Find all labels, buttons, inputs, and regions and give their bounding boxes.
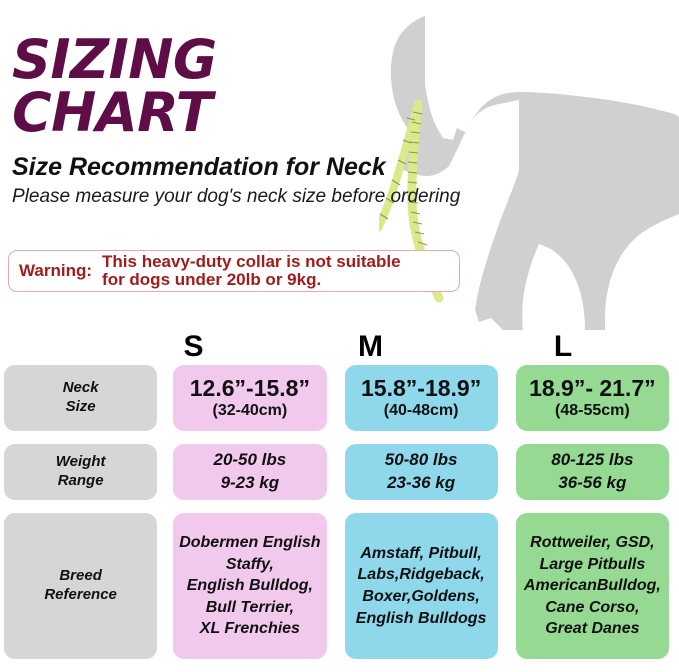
warning-label: Warning: [19,261,92,281]
breed-reference-large-value: Rottweiler, GSD, Large Pitbulls American… [520,532,665,640]
breed-reference-small-value: Dobermen English Staffy, English Bulldog… [175,532,324,640]
neck-size-small: 12.6”-15.8” (32-40cm) [173,365,326,431]
table-header-row: S M L [0,330,679,362]
row-label-breed-reference: Breed Reference [4,513,157,659]
breed-reference-medium: Amstaff, Pitbull, Labs,Ridgeback, Boxer,… [345,513,498,659]
size-table: S M L Neck Size 12.6”-15.8” (32-40cm) 15… [0,330,679,662]
size-header-m: M [282,330,459,362]
weight-range-small-value: 20-50 lbs 9-23 kg [213,449,286,495]
breed-reference-small: Dobermen English Staffy, English Bulldog… [173,513,326,659]
weight-range-medium-value: 50-80 lbs 23-36 kg [385,449,458,495]
size-header-s: S [105,330,282,362]
neck-size-medium-inches: 15.8”-18.9” [361,376,481,400]
table-row: Neck Size 12.6”-15.8” (32-40cm) 15.8”-18… [0,362,679,434]
neck-size-medium-cm: (40-48cm) [384,402,459,420]
row-label-neck-size: Neck Size [4,365,157,431]
neck-size-medium: 15.8”-18.9” (40-48cm) [345,365,498,431]
neck-size-large-cm: (48-55cm) [555,402,630,420]
size-header-l: L [459,330,667,362]
page-title: SIZING CHART [12,34,482,140]
breed-reference-large: Rottweiler, GSD, Large Pitbulls American… [516,513,669,659]
neck-size-small-inches: 12.6”-15.8” [190,376,310,400]
warning-message: This heavy-duty collar is not suitable f… [102,253,401,290]
header-spacer [0,330,105,362]
weight-range-medium: 50-80 lbs 23-36 kg [345,444,498,500]
weight-range-small: 20-50 lbs 9-23 kg [173,444,326,500]
table-row: Weight Range 20-50 lbs 9-23 kg 50-80 lbs… [0,441,679,503]
measure-note: Please measure your dog's neck size befo… [12,186,482,208]
neck-size-large-inches: 18.9”- 21.7” [529,376,656,400]
breed-reference-medium-value: Amstaff, Pitbull, Labs,Ridgeback, Boxer,… [352,543,491,629]
neck-size-large: 18.9”- 21.7” (48-55cm) [516,365,669,431]
table-row: Breed Reference Dobermen English Staffy,… [0,510,679,662]
page-subtitle: Size Recommendation for Neck [12,154,482,182]
warning-banner: Warning: This heavy-duty collar is not s… [8,250,460,292]
neck-size-small-cm: (32-40cm) [213,402,288,420]
weight-range-large-value: 80-125 lbs 36-56 kg [551,449,633,495]
header-block: SIZING CHART Size Recommendation for Nec… [12,34,482,208]
row-label-weight-range: Weight Range [4,444,157,500]
weight-range-large: 80-125 lbs 36-56 kg [516,444,669,500]
